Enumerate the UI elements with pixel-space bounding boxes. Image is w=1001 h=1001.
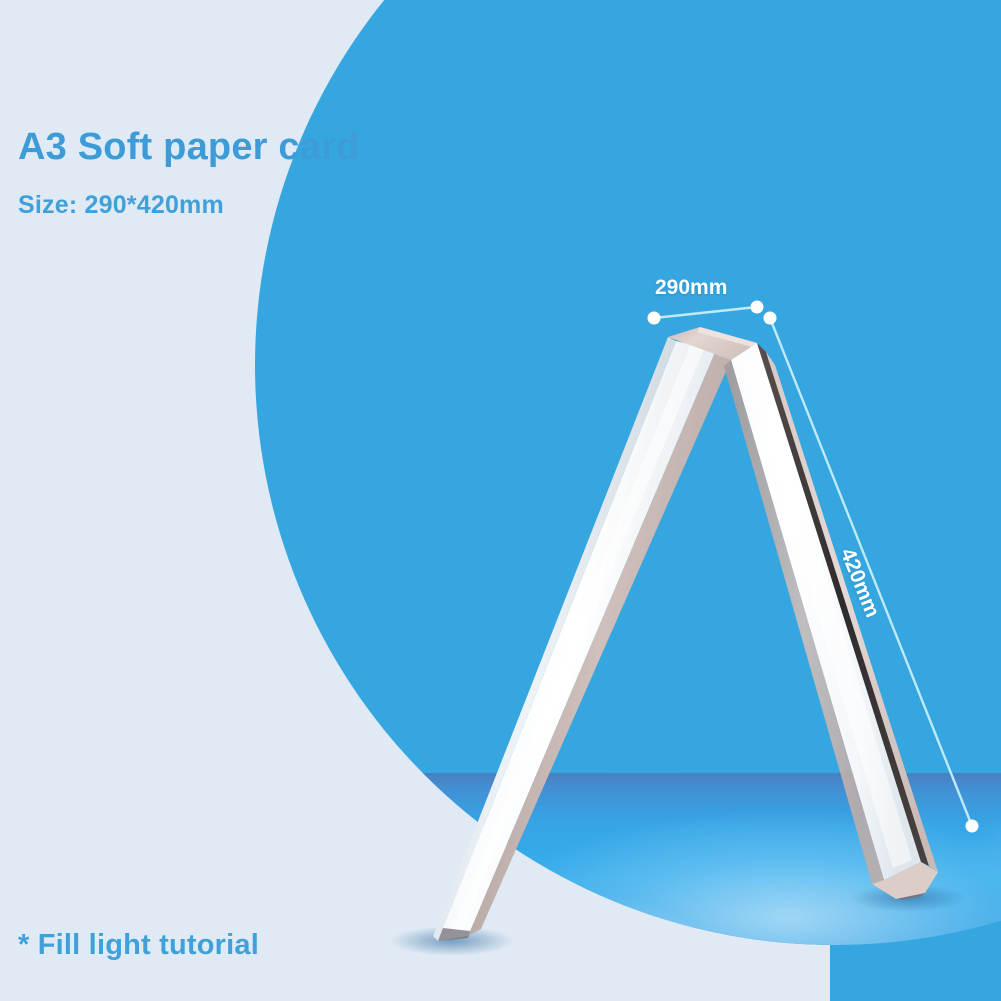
dimension-dot-420-end	[966, 820, 979, 833]
dimension-dot-290-start	[648, 312, 661, 325]
product-image-canvas: A3 Soft paper card Size: 290*420mm * Fil…	[0, 0, 1001, 1001]
size-subtitle: Size: 290*420mm	[18, 191, 224, 220]
dimension-dot-420-start	[764, 312, 777, 325]
dimension-dot-290-end	[751, 301, 764, 314]
left-panel-bevel	[433, 337, 676, 941]
left-panel-sheen	[452, 346, 704, 932]
dimension-label-width: 290mm	[655, 276, 727, 300]
left-panel-inner-edge	[468, 350, 731, 936]
right-panel-seam	[757, 343, 929, 866]
right-panel	[724, 343, 938, 900]
left-panel	[433, 337, 731, 941]
footnote-fill-light-tutorial: * Fill light tutorial	[18, 929, 259, 962]
dimension-line-290	[654, 307, 757, 318]
page-title: A3 Soft paper card	[18, 126, 359, 169]
right-panel-inner-edge	[724, 360, 884, 884]
